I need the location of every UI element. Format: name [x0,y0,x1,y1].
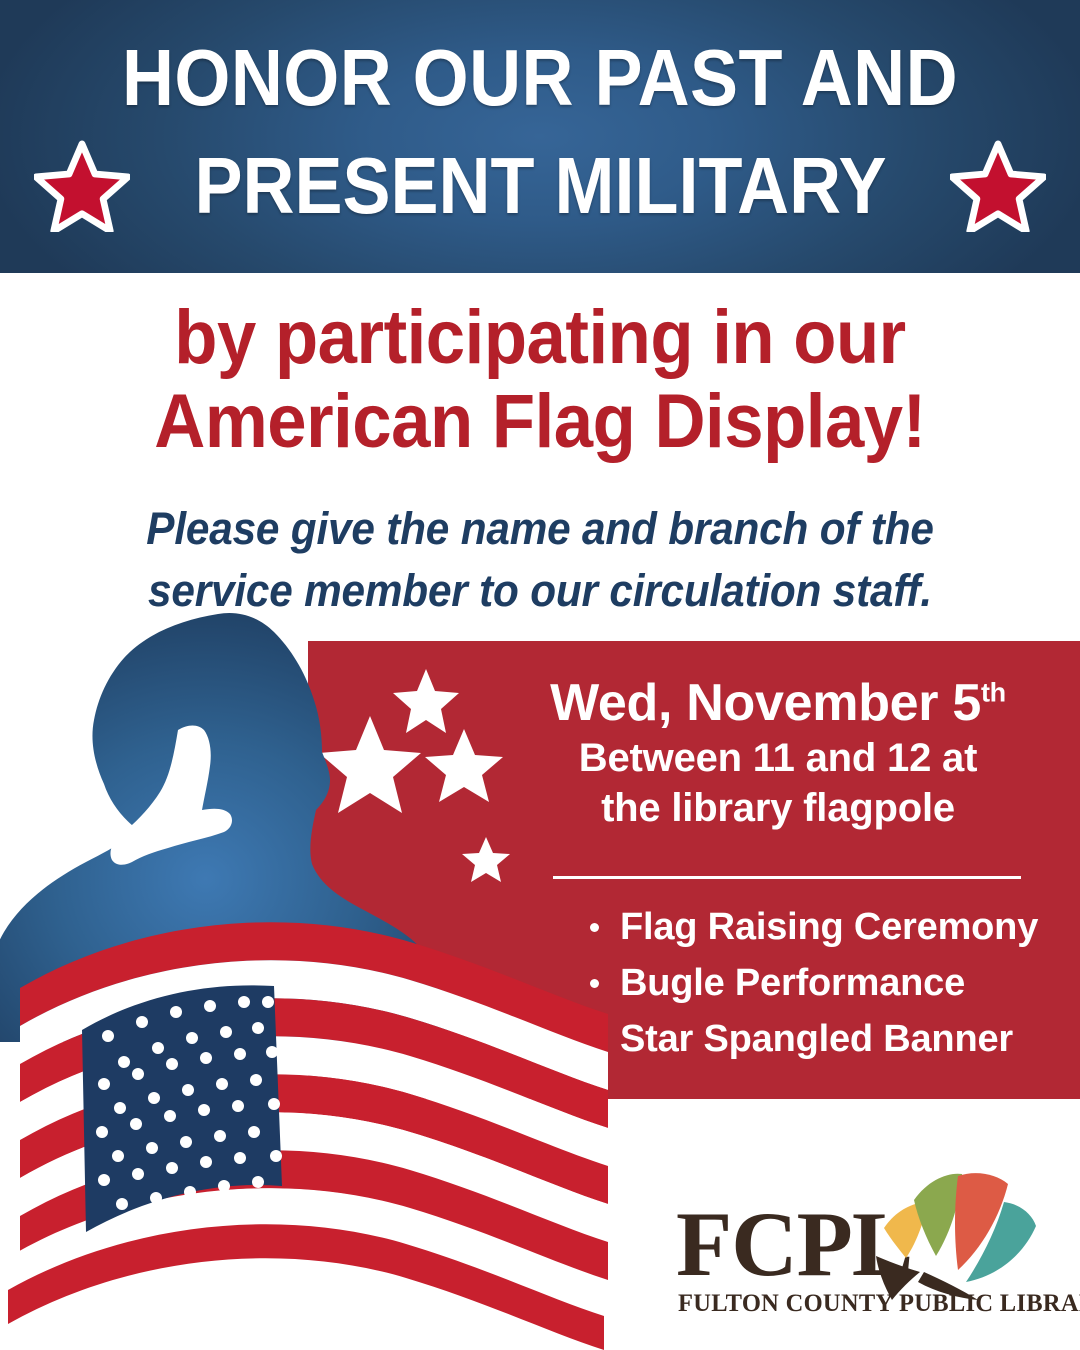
subtitle-line-1: Please give the name and branch of the [32,498,1047,560]
panel-divider [553,876,1021,879]
waving-american-flag-icon [0,888,610,1350]
event-date: Wed, November 5th [498,673,1058,733]
activities-list: Flag Raising Ceremony Bugle Performance … [578,899,1048,1067]
header-banner: HONOR OUR PAST AND PRESENT MILITARY [0,0,1080,273]
event-date-main: Wed, November 5 [550,674,981,732]
event-text-block: Wed, November 5th Between 11 and 12 at t… [498,673,1058,833]
list-item: Bugle Performance [578,955,1048,1011]
event-place: the library flagpole [498,783,1058,833]
header-title-line-2-text: PRESENT MILITARY [194,140,886,232]
headline-line-1: by participating in our [38,296,1042,380]
event-time: Between 11 and 12 at [498,733,1058,783]
headline: by participating in our American Flag Di… [0,296,1080,464]
list-item: Flag Raising Ceremony [578,899,1048,955]
fcpl-logo: FCPL FULTON COUNTY PUBLIC LIBRARY [676,1186,1036,1336]
star-icon [950,140,1046,232]
header-title-line-2-row: PRESENT MILITARY [0,136,1080,236]
subtitle: Please give the name and branch of the s… [0,498,1080,622]
fcpl-open-book-fan-icon [862,1172,1038,1304]
list-item: Star Spangled Banner [578,1011,1048,1067]
event-date-ordinal: th [981,678,1006,708]
header-title-line-1: HONOR OUR PAST AND [54,32,1026,124]
poster-canvas: HONOR OUR PAST AND PRESENT MILITARY by p… [0,0,1080,1350]
star-icon [34,140,130,232]
headline-line-2: American Flag Display! [38,380,1042,464]
logo-tagline: FULTON COUNTY PUBLIC LIBRARY [678,1290,1080,1318]
